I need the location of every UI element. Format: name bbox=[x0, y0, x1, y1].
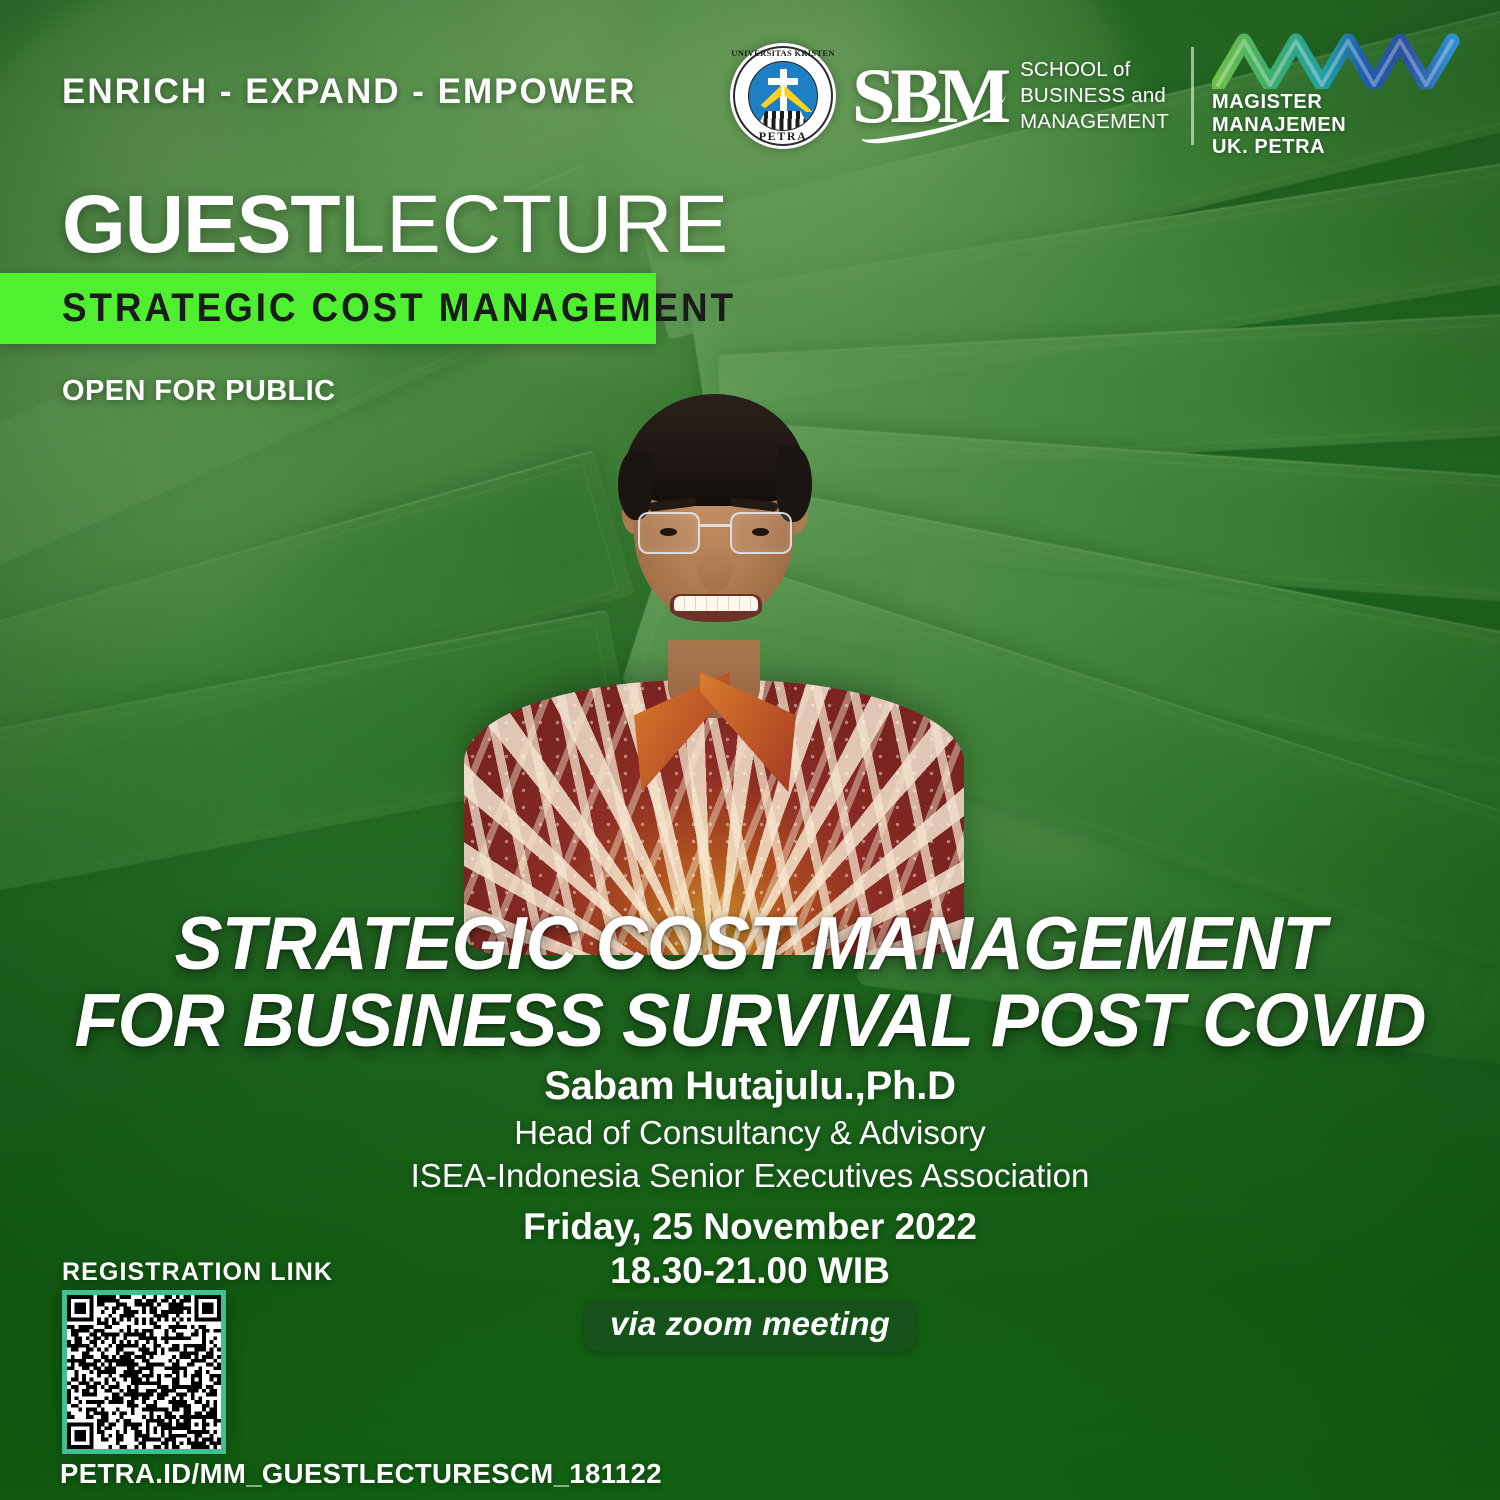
sbm-letters: SBM bbox=[852, 52, 1006, 139]
title-line-1: STRATEGIC COST MANAGEMENT bbox=[30, 905, 1470, 982]
mm-zigzag-ribbon-icon bbox=[1212, 33, 1462, 89]
sbm-sub-line2: BUSINESS and bbox=[1020, 83, 1169, 109]
topic-highlight-bar: STRATEGIC COST MANAGEMENT bbox=[0, 273, 656, 344]
logo-divider bbox=[1191, 47, 1194, 145]
speaker-name: Sabam Hutajulu.,Ph.D bbox=[0, 1062, 1500, 1110]
title-line-2: FOR BUSINESS SURVIVAL POST COVID bbox=[30, 982, 1470, 1059]
sbm-sub-line3: MANAGEMENT bbox=[1020, 109, 1169, 135]
sbm-wordmark-icon: SBM bbox=[852, 61, 1006, 131]
mm-line3: UK. PETRA bbox=[1212, 136, 1462, 158]
speaker-role: Head of Consultancy & Advisory bbox=[0, 1112, 1500, 1155]
sbm-sub-line1: SCHOOL of bbox=[1020, 57, 1169, 83]
sbm-logo: SBM SCHOOL of BUSINESS and MANAGEMENT bbox=[852, 57, 1169, 136]
speaker-portrait-photo bbox=[452, 350, 972, 950]
registration-label: REGISTRATION LINK bbox=[62, 1258, 333, 1287]
event-date: Friday, 25 November 2022 bbox=[0, 1205, 1500, 1249]
sbm-subtitle: SCHOOL of BUSINESS and MANAGEMENT bbox=[1020, 57, 1169, 136]
speaker-organization: ISEA-Indonesia Senior Executives Associa… bbox=[0, 1155, 1500, 1198]
registration-url[interactable]: PETRA.ID/MM_GUESTLECTURESCM_181122 bbox=[60, 1458, 662, 1490]
poster-canvas: 100 ENRICH - EXPAND - EMPOWER UNIVERSITA… bbox=[0, 0, 1500, 1500]
event-type-light: LECTURE bbox=[339, 179, 729, 270]
seal-bottom-text: PETRA bbox=[730, 129, 836, 144]
logo-bar: UNIVERSITAS KRISTEN PETRA SBM SCHOOL of bbox=[730, 36, 1462, 156]
page-title: STRATEGIC COST MANAGEMENT FOR BUSINESS S… bbox=[30, 905, 1470, 1058]
mm-line2: MANAJEMEN bbox=[1212, 114, 1462, 136]
topic-label: STRATEGIC COST MANAGEMENT bbox=[62, 286, 736, 331]
uk-petra-seal-icon: UNIVERSITAS KRISTEN PETRA bbox=[730, 43, 836, 149]
mm-text: MAGISTER MANAJEMEN UK. PETRA bbox=[1212, 91, 1462, 158]
platform-badge: via zoom meeting bbox=[584, 1300, 916, 1351]
registration-qr-code[interactable] bbox=[62, 1290, 226, 1454]
mm-line1: MAGISTER bbox=[1212, 91, 1462, 113]
magister-manajemen-logo: MAGISTER MANAJEMEN UK. PETRA bbox=[1212, 33, 1462, 158]
seal-top-text: UNIVERSITAS KRISTEN bbox=[730, 48, 836, 58]
event-type-bold: GUEST bbox=[62, 179, 339, 270]
event-type-heading: GUESTLECTURE bbox=[62, 178, 729, 272]
tagline: ENRICH - EXPAND - EMPOWER bbox=[62, 72, 636, 112]
speaker-info: Sabam Hutajulu.,Ph.D Head of Consultancy… bbox=[0, 1062, 1500, 1198]
open-for-public-badge: OPEN FOR PUBLIC bbox=[62, 375, 335, 408]
